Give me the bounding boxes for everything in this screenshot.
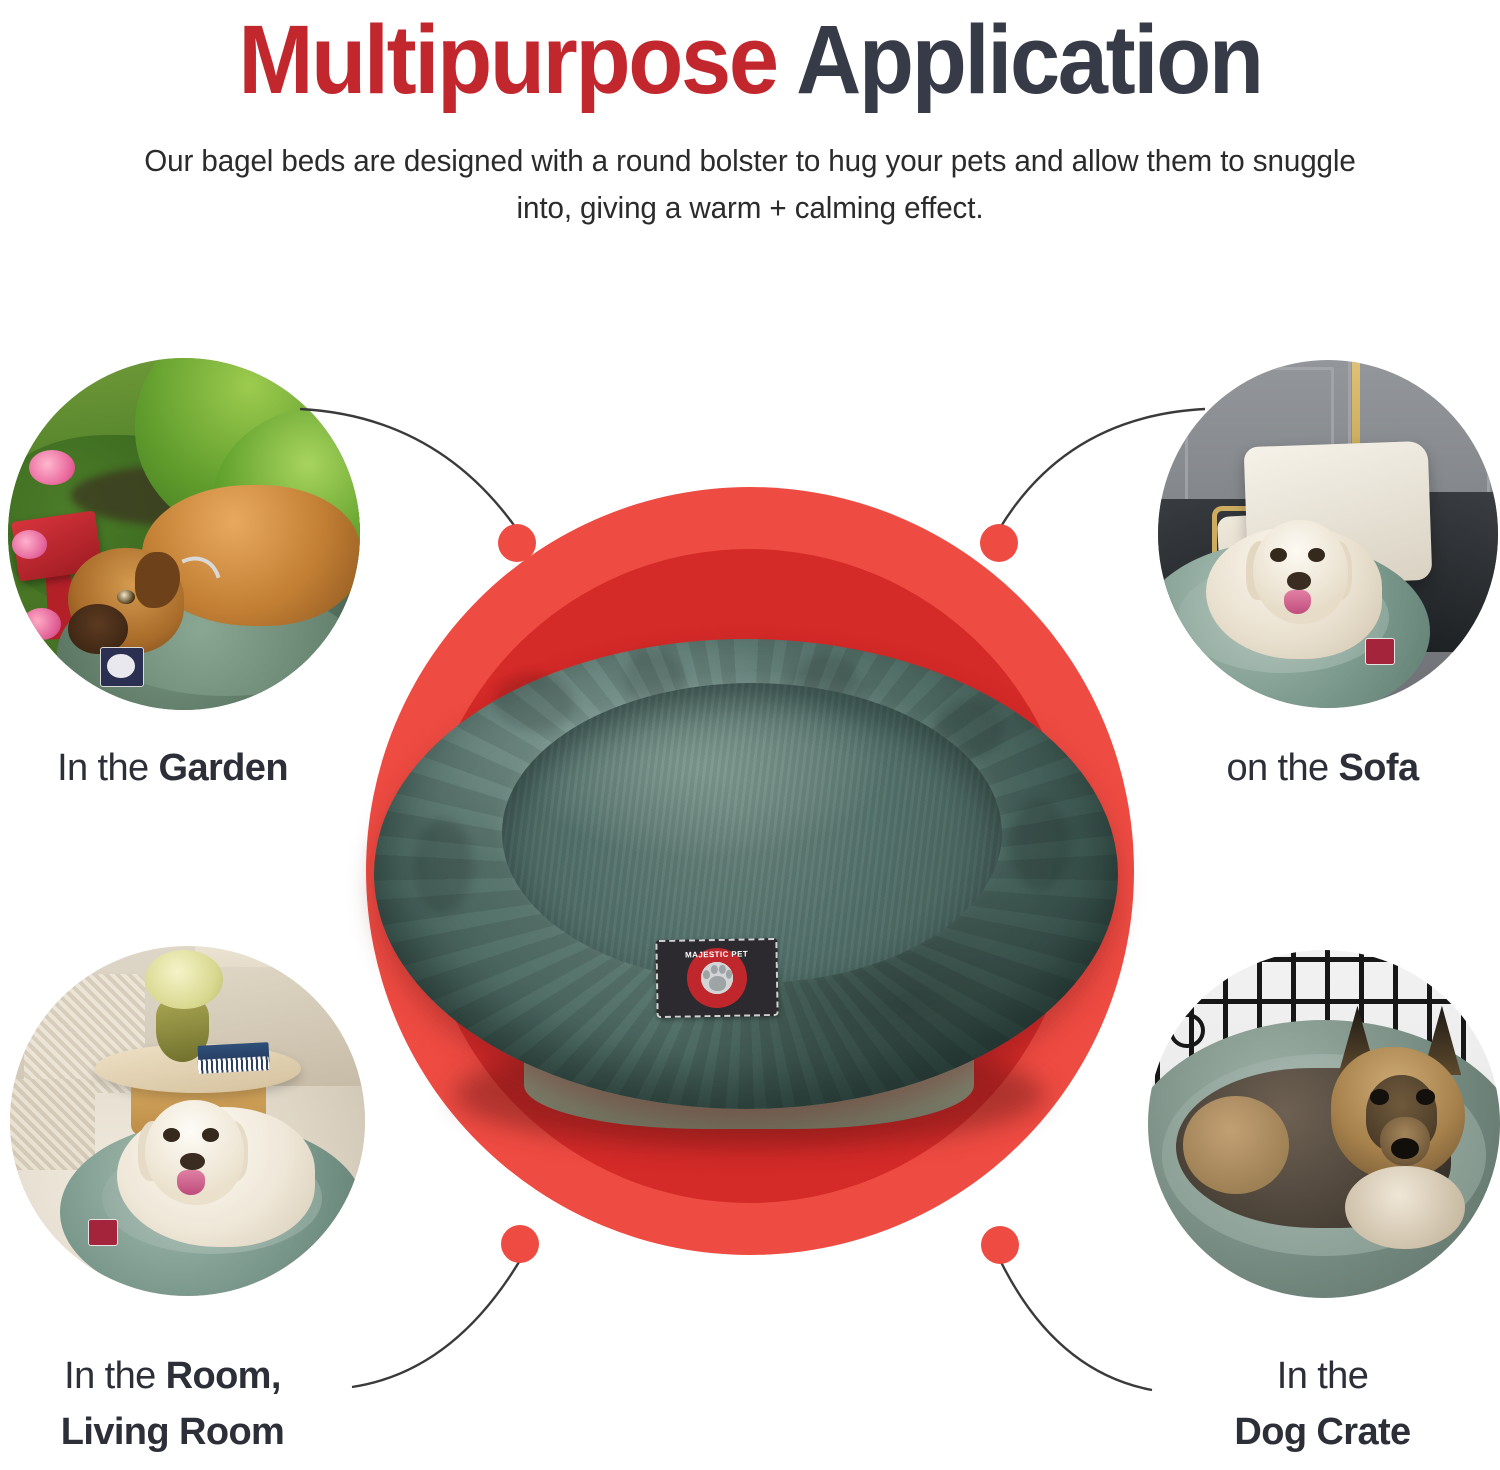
connector-line-crate — [1001, 1262, 1152, 1390]
center-product-graphic: MAJESTIC PET — [366, 487, 1134, 1257]
caption-garden: In the Garden — [0, 740, 345, 796]
header: Multipurpose Application Our bagel beds … — [0, 0, 1500, 232]
caption-dog-crate-light: In the — [1277, 1355, 1368, 1397]
page-subtitle: Our bagel beds are designed with a round… — [23, 112, 1478, 232]
flower-icon — [145, 950, 223, 1010]
living-room-scene — [10, 946, 365, 1296]
garden-scene — [8, 358, 360, 710]
paw-print-icon — [702, 964, 732, 993]
caption-garden-bold: Garden — [159, 747, 288, 789]
brand-tag — [1365, 638, 1394, 664]
sofa-photo — [1158, 360, 1498, 708]
living-room-photo — [10, 946, 365, 1296]
title-part-1: Multipurpose — [238, 5, 776, 114]
flower-icon — [22, 608, 61, 640]
caption-living-room-bold: Room, — [166, 1355, 281, 1397]
connector-line-living-room — [352, 1262, 519, 1387]
bagel-dog-bed: MAJESTIC PET — [374, 639, 1118, 1131]
caption-dog-crate-line2: Dog Crate — [1234, 1411, 1410, 1453]
flower-icon — [29, 450, 75, 485]
caption-sofa-bold: Sofa — [1339, 747, 1419, 789]
crate-photo — [1148, 950, 1500, 1298]
garden-photo — [8, 358, 360, 710]
caption-sofa: on the Sofa — [1150, 740, 1495, 796]
crate-scene — [1148, 950, 1500, 1298]
flower-icon — [12, 530, 47, 558]
caption-living-room-light: In the — [64, 1355, 165, 1397]
title-part-2: Application — [796, 5, 1262, 114]
brand-tag: MAJESTIC PET — [655, 938, 778, 1018]
caption-dog-crate: In the Dog Crate — [1150, 1348, 1495, 1460]
caption-garden-light: In the — [57, 747, 158, 789]
sofa-scene — [1158, 360, 1498, 708]
caption-living-room: In the Room, Living Room — [0, 1348, 345, 1460]
caption-living-room-line2: Living Room — [61, 1411, 285, 1453]
brand-logo: MAJESTIC PET — [686, 947, 747, 1008]
infographic-page: Multipurpose Application Our bagel beds … — [0, 0, 1500, 1470]
caption-sofa-light: on the — [1227, 747, 1339, 789]
page-title: Multipurpose Application — [53, 0, 1448, 112]
brand-tag — [88, 1219, 118, 1246]
